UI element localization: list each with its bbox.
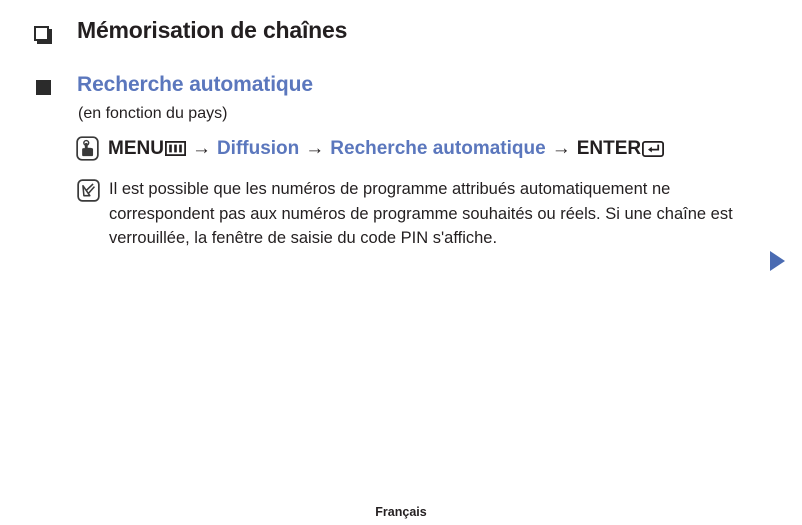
section-heading-row: Recherche automatique [36, 73, 313, 96]
footer-language: Français [0, 505, 802, 519]
manual-page: Mémorisation de chaînes Recherche automa… [0, 0, 802, 525]
section-subtitle: (en fonction du pays) [78, 105, 227, 123]
next-page-triangle-icon[interactable] [770, 251, 785, 271]
enter-label: ENTER [577, 138, 641, 160]
page-title-row: Mémorisation de chaînes [34, 18, 347, 43]
menu-path-row: MENU → Diffusion → Recherche automatique… [76, 136, 664, 161]
page-title: Mémorisation de chaînes [77, 18, 347, 43]
path-arrow-1: → [192, 138, 211, 160]
note-text: Il est possible que les numéros de progr… [109, 177, 757, 251]
note-pencil-icon [77, 179, 100, 202]
path-arrow-3: → [552, 138, 571, 160]
menu-path-text: MENU → Diffusion → Recherche automatique… [108, 138, 664, 160]
path-arrow-2: → [305, 138, 324, 160]
solid-square-marker-icon [36, 80, 51, 95]
hand-press-button-icon [76, 136, 99, 161]
enter-return-icon [642, 141, 664, 157]
menu-grid-icon [165, 141, 186, 156]
path-step-recherche-automatique[interactable]: Recherche automatique [330, 138, 545, 160]
section-heading: Recherche automatique [77, 73, 313, 96]
path-step-diffusion[interactable]: Diffusion [217, 138, 299, 160]
note-block: Il est possible que les numéros de progr… [77, 177, 767, 251]
menu-label: MENU [108, 138, 164, 160]
hollow-square-marker-icon [34, 26, 49, 41]
